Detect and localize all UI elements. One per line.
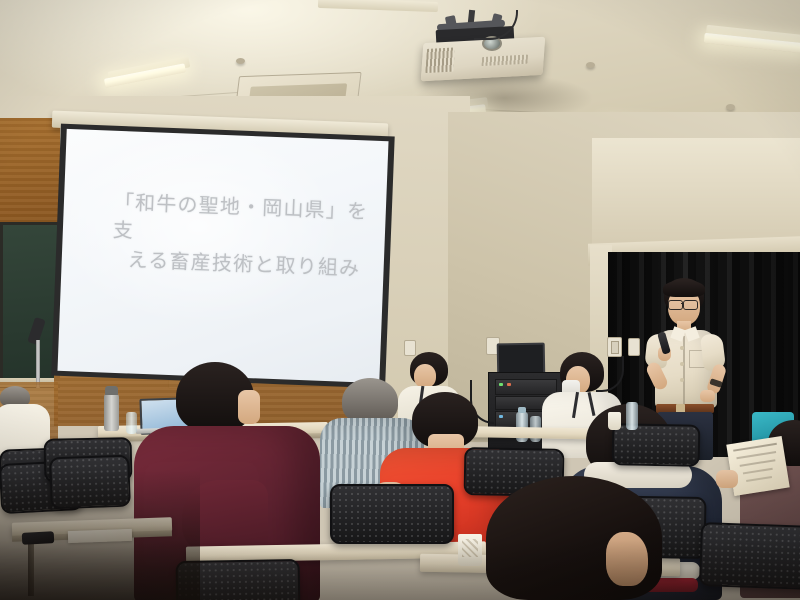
attendee-ear-area bbox=[238, 390, 260, 424]
slide-title-block: 「和牛の聖地・岡山県」を支 える畜産技術と取り組み bbox=[111, 188, 374, 283]
presenter-hand-right bbox=[700, 390, 715, 402]
handout-text-line bbox=[743, 468, 773, 474]
mesh-back-chair[interactable] bbox=[612, 423, 701, 467]
handout-text-line bbox=[740, 459, 776, 466]
attendee-hand bbox=[716, 470, 738, 488]
presenter-hair-top bbox=[663, 280, 705, 297]
paper-cup bbox=[608, 412, 621, 430]
handout-text-line bbox=[733, 443, 777, 452]
rack-status-led bbox=[507, 383, 511, 386]
handout-text-line bbox=[746, 476, 772, 482]
presenter-glasses-right bbox=[683, 300, 698, 310]
projector-vent bbox=[482, 55, 529, 66]
presenter-glasses-bridge bbox=[681, 303, 684, 304]
mesh-back-chair[interactable] bbox=[330, 484, 454, 544]
sprinkler-head bbox=[726, 104, 735, 110]
thermos-cap bbox=[105, 386, 118, 395]
lecture-room-photo: 「和牛の聖地・岡山県」を支 える畜産技術と取り組み bbox=[0, 0, 800, 600]
presenter-shirt-button bbox=[680, 378, 684, 382]
presenter-shirt-button bbox=[680, 346, 684, 350]
thermos-bottle bbox=[104, 393, 119, 431]
water-bottle bbox=[626, 402, 638, 430]
projection-screen-frame: 「和牛の聖地・岡山県」を支 える畜産技術と取り組み bbox=[51, 124, 394, 389]
wood-wall-panel bbox=[0, 118, 60, 228]
handout-text-line bbox=[736, 451, 776, 459]
rack-status-led bbox=[499, 383, 503, 386]
projector-mount-arm bbox=[445, 15, 457, 29]
slide-title-line-1: 「和牛の聖地・岡山県」を支 bbox=[112, 188, 374, 255]
presenter-glasses-left bbox=[668, 300, 683, 310]
printed-handout[interactable] bbox=[726, 436, 789, 496]
sprinkler-head bbox=[586, 62, 595, 68]
sprinkler-head bbox=[236, 58, 245, 64]
projector-vent bbox=[425, 47, 455, 73]
presenter-shirt-button bbox=[680, 362, 684, 366]
microphone-stand bbox=[36, 340, 40, 388]
foreground-shadow bbox=[0, 540, 800, 600]
